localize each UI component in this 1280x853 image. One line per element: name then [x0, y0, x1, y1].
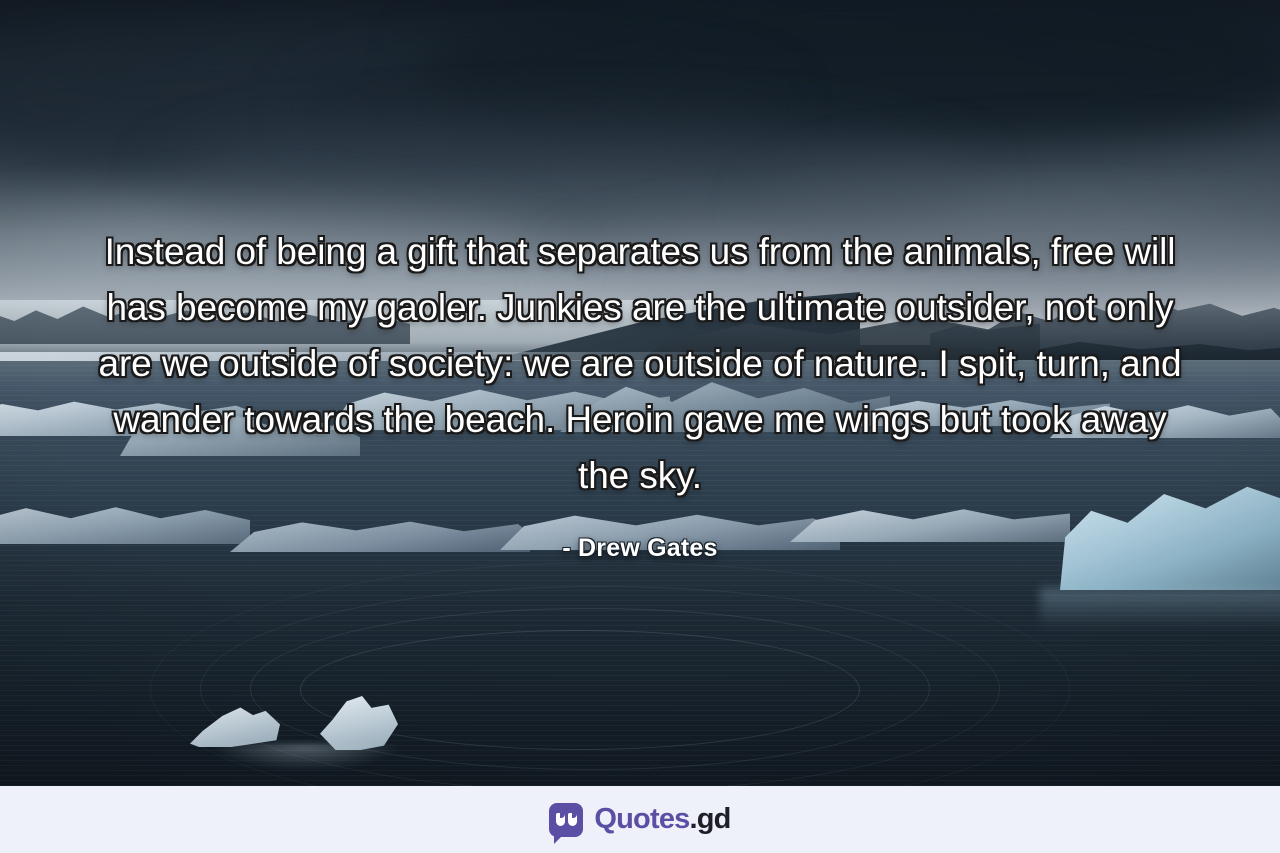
brand-logo[interactable]: Quotes.gd: [549, 803, 730, 837]
quote-bubble-icon: [549, 803, 583, 837]
quote-mark-glyph: [556, 813, 565, 826]
quote-mark-glyph: [568, 813, 577, 826]
brand-name: Quotes: [594, 803, 689, 835]
footer-bar: Quotes.gd: [0, 786, 1280, 853]
brand-wordmark: Quotes.gd: [594, 805, 730, 834]
brand-tld: .gd: [690, 803, 731, 835]
quote-overlay: Instead of being a gift that separates u…: [0, 0, 1280, 786]
quote-card-page: Instead of being a gift that separates u…: [0, 0, 1280, 853]
quote-text: Instead of being a gift that separates u…: [84, 224, 1196, 504]
quote-author: - Drew Gates: [562, 534, 717, 563]
